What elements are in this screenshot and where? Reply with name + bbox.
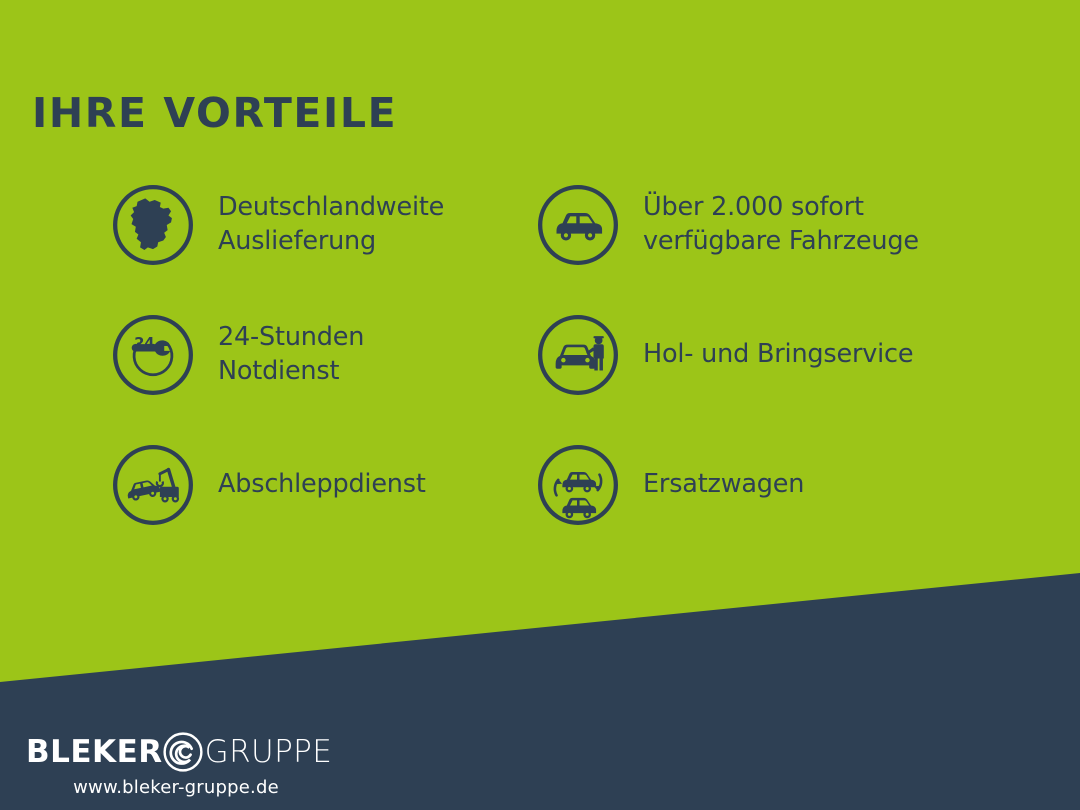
benefit-label: Abschleppdienst <box>218 468 426 502</box>
page-title: IHRE VORTEILE <box>32 91 397 136</box>
logo-row: BLEKER GRUPPE <box>26 729 326 775</box>
logo-wordmark-primary: BLEKER <box>26 737 163 768</box>
benefits-grid: Deutschlandweite Auslieferung Über 2.000… <box>110 160 1010 550</box>
benefit-item-verfuegbare-fahrzeuge: Über 2.000 sofort verfügbare Fahrzeuge <box>535 160 975 290</box>
footer-logo[interactable]: BLEKER GRUPPE www.bleker-gruppe.de <box>26 729 326 798</box>
24-hour-wrench-icon: 24 <box>110 312 196 398</box>
benefit-label: Ersatzwagen <box>643 468 804 502</box>
germany-map-icon <box>110 182 196 268</box>
car-exchange-icon <box>535 442 621 528</box>
benefit-label: Hol- und Bringservice <box>643 338 913 372</box>
car-with-driver-icon <box>535 312 621 398</box>
spiral-swirl-icon <box>156 725 210 779</box>
benefit-label: 24-Stunden Notdienst <box>218 321 364 389</box>
website-url[interactable]: www.bleker-gruppe.de <box>26 777 326 798</box>
benefit-item-hol-und-bringservice: Hol- und Bringservice <box>535 290 975 420</box>
benefit-item-ersatzwagen: Ersatzwagen <box>535 420 975 550</box>
tow-truck-icon <box>110 442 196 528</box>
benefit-item-deutschlandweite-auslieferung: Deutschlandweite Auslieferung <box>110 160 535 290</box>
benefit-item-24-stunden-notdienst: 24 24-Stunden Notdienst <box>110 290 535 420</box>
benefit-label: Deutschlandweite Auslieferung <box>218 191 444 259</box>
slide-canvas: IHRE VORTEILE Deutschlandweite Ausliefer… <box>0 0 1080 810</box>
benefit-label: Über 2.000 sofort verfügbare Fahrzeuge <box>643 191 919 259</box>
logo-wordmark-secondary: GRUPPE <box>205 737 333 768</box>
benefit-item-abschleppdienst: Abschleppdienst <box>110 420 535 550</box>
car-side-icon <box>535 182 621 268</box>
